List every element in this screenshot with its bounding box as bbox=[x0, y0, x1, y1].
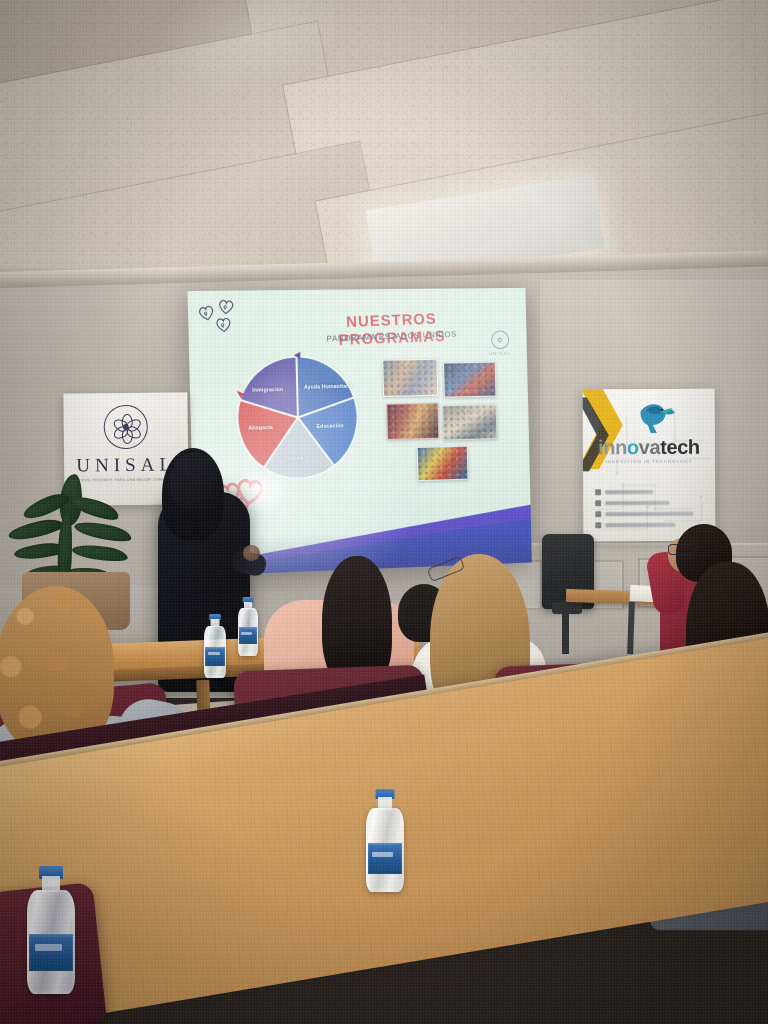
slide-logo-text: UNISAL bbox=[488, 351, 512, 356]
water-bottle[interactable] bbox=[27, 890, 75, 994]
slide-unisal-logo: ✿ UNISAL bbox=[487, 330, 512, 359]
globe-icon bbox=[595, 500, 601, 506]
innovatech-wordmark: innovatech bbox=[583, 437, 715, 461]
innovatech-slogan: INNOVATION IN TECHNOLOGY bbox=[583, 459, 715, 465]
innovatech-contacts bbox=[595, 489, 705, 534]
water-bottle[interactable] bbox=[366, 808, 404, 892]
innovatech-word-part-1: inn bbox=[598, 437, 627, 459]
facebook-icon bbox=[595, 511, 601, 517]
heart-outline-icon bbox=[214, 316, 232, 333]
water-bottle[interactable] bbox=[204, 626, 226, 678]
contact-text bbox=[605, 523, 675, 527]
contact-row bbox=[595, 500, 705, 507]
instagram-icon bbox=[595, 522, 601, 528]
contact-row bbox=[595, 511, 705, 518]
unisal-flower-logo: ✿ bbox=[491, 331, 509, 350]
contact-text bbox=[605, 501, 669, 505]
heart-decorations bbox=[198, 298, 260, 351]
innovatech-banner: innovatech INNOVATION IN TECHNOLOGY bbox=[583, 389, 716, 542]
innovatech-word-part-2: o bbox=[627, 437, 639, 459]
collage-photo bbox=[386, 403, 439, 440]
water-bottle[interactable] bbox=[238, 608, 258, 656]
unisal-flower-logo bbox=[104, 405, 148, 449]
bottle-label bbox=[29, 934, 73, 971]
hummingbird-icon bbox=[635, 399, 677, 437]
office-chair-post bbox=[562, 606, 569, 654]
heart-outline-icon bbox=[217, 298, 235, 315]
pie-svg bbox=[231, 350, 365, 485]
presenter-head bbox=[170, 452, 220, 510]
contact-text bbox=[605, 490, 653, 494]
bottle-label bbox=[239, 627, 257, 644]
presenter-hand bbox=[243, 545, 260, 561]
programs-pie-chart: Inmigración Ayuda Humanitaria Educación … bbox=[231, 350, 365, 491]
contact-row bbox=[595, 489, 705, 496]
collage-photo bbox=[442, 404, 497, 440]
glasses-icon bbox=[668, 544, 696, 555]
phone-icon bbox=[595, 489, 601, 495]
contact-text bbox=[605, 512, 693, 516]
photo-scene: NUESTROS PROGRAMAS PANORAMA ESTADOS UNID… bbox=[0, 0, 768, 1024]
collage-photo bbox=[417, 446, 469, 481]
collage-photo bbox=[443, 362, 496, 398]
photo-collage bbox=[382, 358, 504, 493]
heart-outline-icon bbox=[196, 303, 216, 322]
bottle-label bbox=[205, 647, 225, 666]
innovatech-word-part-3: va bbox=[639, 437, 661, 459]
bottle-label bbox=[368, 843, 403, 873]
innovatech-word-part-4: tech bbox=[660, 437, 700, 459]
collage-photo bbox=[382, 359, 438, 397]
